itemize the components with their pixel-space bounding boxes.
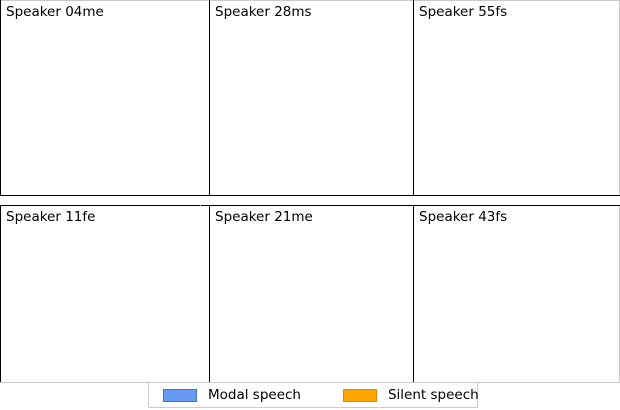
- panel-speaker-11fe: Speaker 11fe: [1, 206, 209, 382]
- figure-left-border: [0, 0, 1, 196]
- row1-col2-col3-divider: [413, 0, 414, 196]
- legend-label-modal-speech: Modal speech: [208, 387, 301, 403]
- speaker-04me-modal-region: [34, 24, 163, 162]
- panel-title-speaker-04me: Speaker 04me: [6, 4, 104, 21]
- panel-title-speaker-43fs: Speaker 43fs: [419, 209, 507, 226]
- speaker-43fs-silent-region: [470, 258, 584, 352]
- legend: Modal speech Silent speech: [148, 382, 478, 408]
- speaker-55fs-modal-region: [466, 44, 590, 150]
- legend-entry-silent-speech: Silent speech: [343, 383, 479, 407]
- speaker-11fe-silent-outline: [40, 230, 188, 370]
- panel-title-speaker-11fe: Speaker 11fe: [6, 209, 95, 226]
- figure-top-border: [0, 0, 620, 1]
- row2-col2-col3-divider: [413, 205, 414, 383]
- speaker-11fe-modal-outline: [57, 232, 186, 374]
- speaker-43fs-silent-outline: [464, 248, 592, 358]
- panel-speaker-55fs: Speaker 55fs: [414, 1, 619, 195]
- speaker-28ms-silent-region: [247, 40, 362, 165]
- row1-col1-col2-light-divider: [200, 0, 201, 195]
- speaker-55fs-silent-outline: [468, 46, 592, 160]
- speaker-55fs-silent-region: [470, 48, 586, 150]
- speaker-04me-silent-region: [40, 68, 140, 158]
- row2-col1-col2-light-divider: [200, 205, 201, 383]
- speaker-43fs-modal-region: [462, 250, 590, 360]
- speaker-04me-modal-outline: [34, 24, 163, 162]
- row2-top-border: [0, 205, 620, 206]
- panel-title-speaker-21me: Speaker 21me: [215, 209, 313, 226]
- speaker-21me-silent-region: [248, 236, 366, 362]
- speaker-21me-modal-outline: [244, 232, 382, 372]
- row2-left-border: [0, 205, 1, 383]
- speaker-28ms-silent-outline: [246, 38, 368, 174]
- speaker-21me-modal-region: [244, 232, 382, 372]
- legend-label-silent-speech: Silent speech: [388, 387, 479, 403]
- speaker-28ms-modal-region: [244, 36, 366, 172]
- speaker-43fs-modal-outline: [462, 250, 590, 360]
- speaker-11fe-silent-region: [52, 244, 178, 362]
- silent-speech-swatch: [343, 389, 377, 402]
- speaker-04me-silent-outline: [36, 23, 165, 166]
- speaker-21me-silent-outline: [242, 230, 380, 368]
- speaker-28ms-modal-outline: [244, 36, 366, 172]
- speaker-11fe-modal-region: [57, 232, 186, 374]
- row1-bottom-border: [0, 195, 620, 196]
- speaker-workspace-figure: Speaker 04me Speaker 28ms Speaker 55fs S…: [0, 0, 620, 410]
- speaker-55fs-modal-outline: [466, 44, 590, 150]
- row2-col1-col2-divider: [209, 205, 210, 383]
- modal-speech-swatch: [163, 389, 197, 402]
- panel-speaker-43fs: Speaker 43fs: [414, 206, 619, 382]
- panel-title-speaker-28ms: Speaker 28ms: [215, 4, 312, 21]
- panel-title-speaker-55fs: Speaker 55fs: [419, 4, 507, 21]
- panel-speaker-28ms: Speaker 28ms: [210, 1, 413, 195]
- panel-speaker-04me: Speaker 04me: [1, 1, 209, 195]
- panel-speaker-21me: Speaker 21me: [210, 206, 413, 382]
- row1-col1-col2-divider: [209, 0, 210, 196]
- legend-entry-modal-speech: Modal speech: [163, 383, 301, 407]
